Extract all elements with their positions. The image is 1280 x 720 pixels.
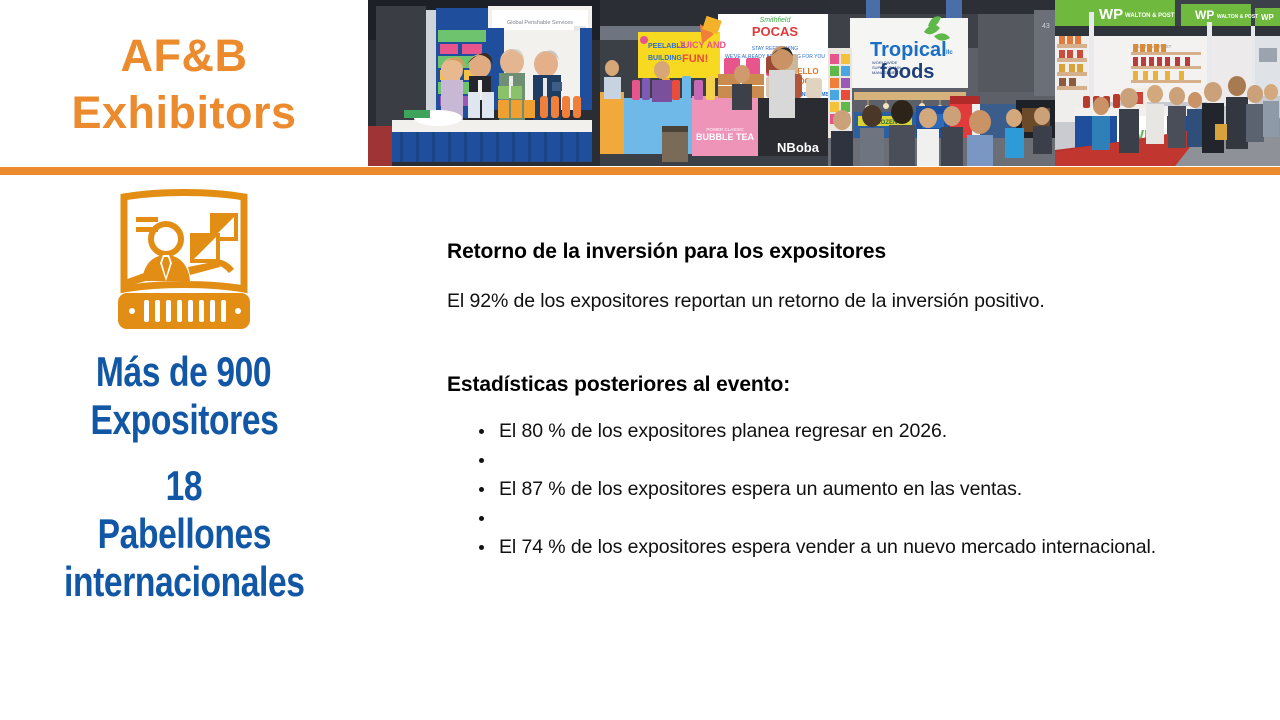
svg-text:BUBBLE TEA: BUBBLE TEA [696,132,754,142]
svg-text:POWER CLASSIC: POWER CLASSIC [706,127,744,132]
svg-text:43: 43 [1042,23,1050,30]
header: AF&B Exhibitors [0,0,1280,167]
heading-post-event-stats: Estadísticas posteriores al evento: [447,373,1247,397]
stat-pavilion-count-line3: internacionales [64,558,304,606]
stat-pavilion-count-line1: 18 [166,462,203,510]
svg-text:FUN!: FUN! [682,53,708,65]
svg-text:POCAS: POCAS [752,24,799,39]
title-line-1: AF&B [121,27,248,84]
svg-text:WP: WP [1099,6,1123,23]
main-content: Retorno de la inversión para los exposit… [447,240,1247,562]
photo-booth-global-perishable-services: Global Perishable Services [368,0,600,166]
slide-root: AF&B Exhibitors [0,0,1280,720]
header-divider [0,167,1280,175]
stat-exhibitor-count-line2: Expositores [90,396,278,444]
title-line-2: Exhibitors [71,84,296,141]
stat-exhibitor-count: Más de 900 Expositores [0,348,368,444]
heading-roi: Retorno de la inversión para los exposit… [447,240,1247,264]
photo-strip: Global Perishable Services [368,0,1280,166]
paragraph-roi: El 92% de los expositores reportan un re… [447,290,1247,313]
post-event-stats-list: El 80 % de los expositores planea regres… [447,417,1247,562]
list-item: El 87 % de los expositores espera un aum… [477,475,1247,504]
svg-text:NBoba: NBoba [777,140,820,155]
left-column: Más de 900 Expositores 18 Pabellones int… [0,180,368,720]
svg-text:Tropical: Tropical [870,39,947,61]
svg-text:llc: llc [946,50,953,56]
exhibitor-presentation-icon [0,185,368,335]
slide-title: AF&B Exhibitors [0,0,368,167]
svg-text:MANAGEMENT: MANAGEMENT [872,70,901,75]
list-item [477,446,1247,475]
svg-text:WP: WP [1261,13,1275,22]
svg-text:WP: WP [1195,8,1214,22]
list-item: El 80 % de los expositores planea regres… [477,417,1247,446]
svg-text:Smithfield: Smithfield [760,17,792,24]
list-item [477,504,1247,533]
stat-pavilion-count-line2: Pabellones [97,510,270,558]
svg-text:BUILDING: BUILDING [648,55,682,62]
svg-text:Global Perishable Services: Global Perishable Services [507,20,573,26]
exhibitor-stats: Más de 900 Expositores 18 Pabellones int… [0,348,368,606]
svg-text:WALTON & POST: WALTON & POST [1125,13,1175,19]
stat-exhibitor-count-line1: Más de 900 [96,348,271,396]
stat-pavilion-count: 18 Pabellones internacionales [0,462,368,606]
photo-booth-snack-beverage: POCAS STAY REFRESHING WE'VE ALREADY BEEN… [600,0,828,166]
photo-booth-walton-and-post: WP WALTON & POST WP WALTON & POST WP [1055,0,1280,166]
list-item: El 74 % de los expositores espera vender… [477,533,1234,562]
photo-booth-tropical-foods: 43 Tropical llc foods WORLDWIDE SUPPLY C… [828,0,1055,166]
svg-text:WALTON & POST: WALTON & POST [1217,14,1258,20]
